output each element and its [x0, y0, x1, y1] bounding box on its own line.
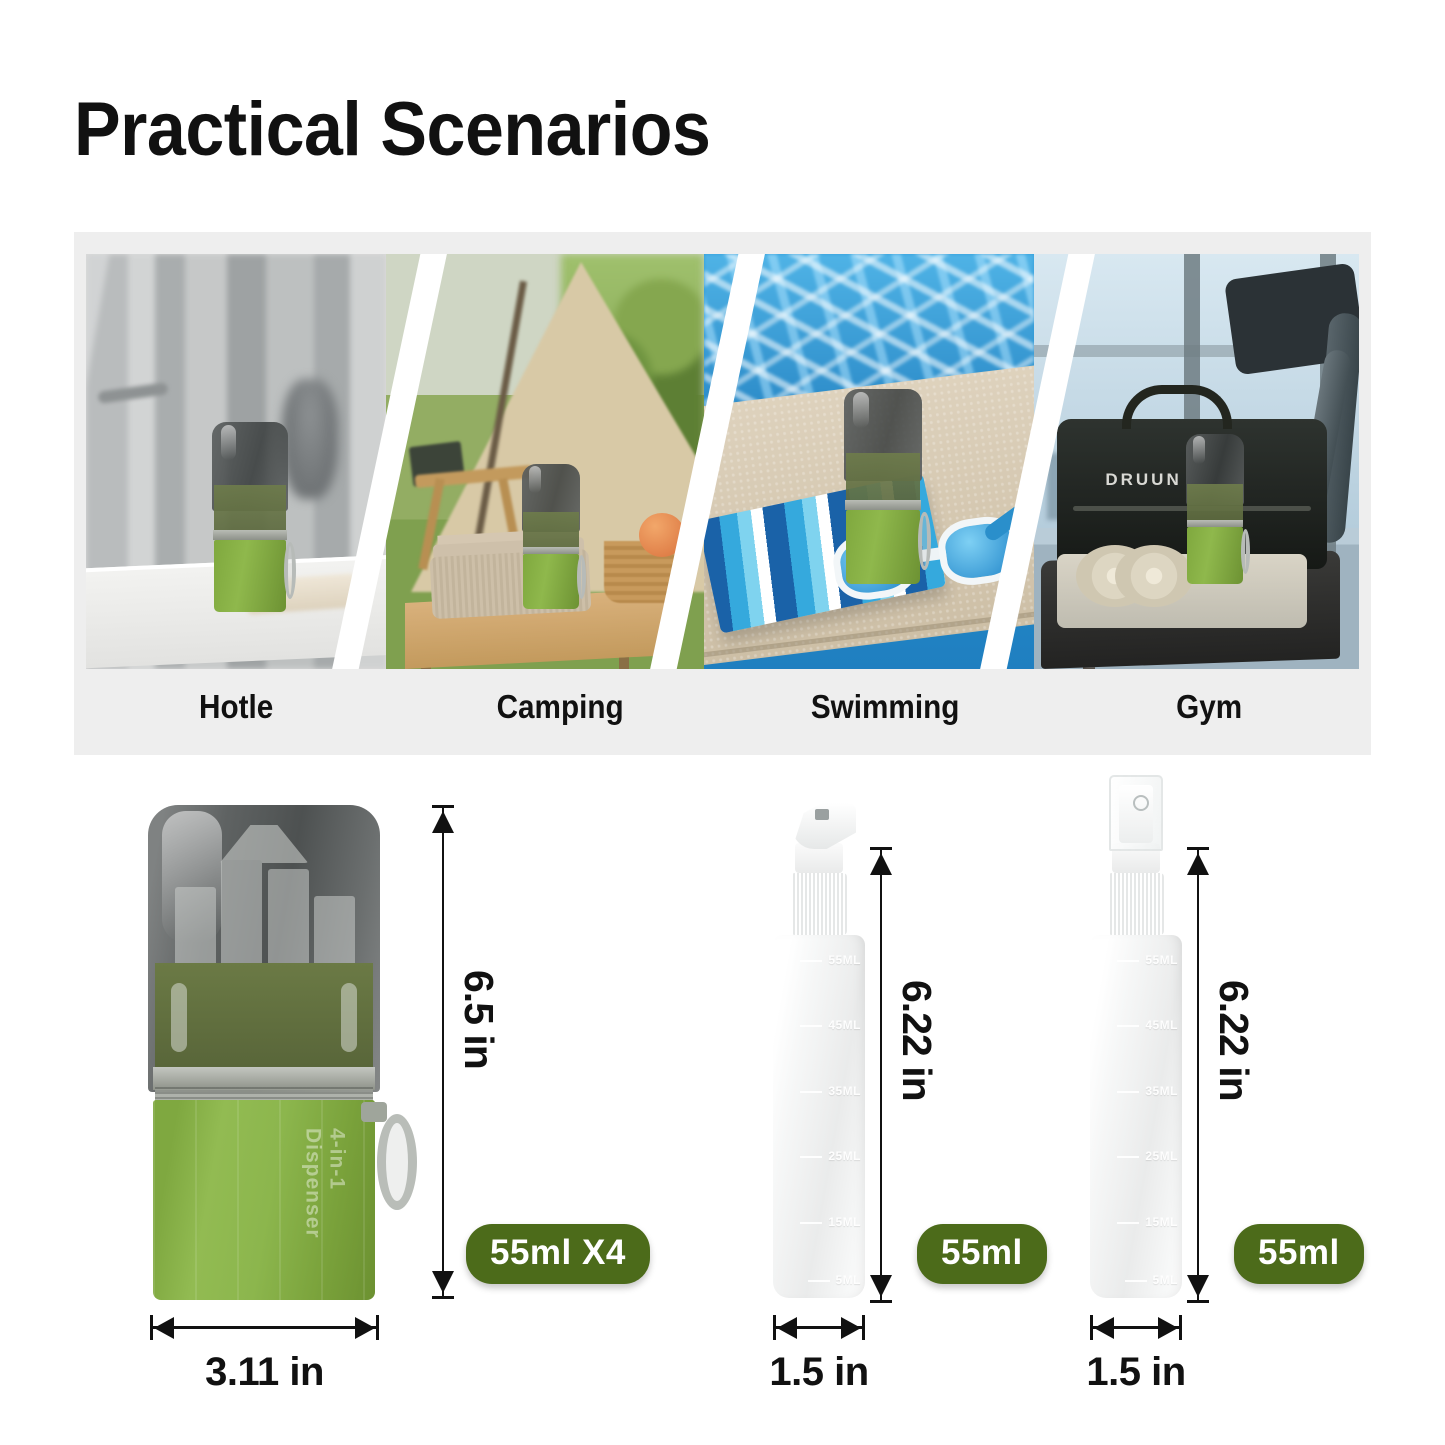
graduation-mark: 55ML — [828, 953, 861, 967]
spray-volume-badge: 55ml — [1234, 1224, 1364, 1284]
graduation-mark: 55ML — [1145, 953, 1178, 967]
product-in-swimming — [844, 389, 922, 584]
product-ring — [523, 547, 580, 554]
scenario-photo-strip: DRUUN — [86, 254, 1359, 669]
dispenser-emboss-text: 4-in-1 Dispenser — [301, 1128, 349, 1300]
mist-spray-head-icon — [1119, 785, 1153, 843]
graduation-mark: 5ML — [836, 1273, 862, 1287]
graduation-mark: 35ML — [828, 1084, 861, 1098]
product-body — [523, 554, 579, 609]
dispenser-height-dimension — [442, 808, 444, 1296]
graduation-mark: 45ML — [828, 1018, 861, 1032]
scenario-label-gym: Gym — [1063, 688, 1355, 726]
spray-height-dimension — [1197, 850, 1199, 1300]
inner-pump-heads — [171, 825, 357, 974]
cap-highlight — [853, 392, 869, 429]
graduation-mark: 25ML — [828, 1149, 861, 1163]
graduation-mark: 15ML — [1145, 1215, 1178, 1229]
spray-width-dimension — [1092, 1326, 1180, 1329]
product-spray-bottle: 55ML 45ML 35ML 25ML 15ML 5ML — [1090, 935, 1182, 1298]
bag-brand-label: DRUUN — [1105, 470, 1181, 490]
product-band — [1187, 484, 1243, 523]
lotion-width-dimension — [775, 1326, 863, 1329]
scenario-label-hotel: Hotle — [90, 688, 382, 726]
product-lotion-bottle: 55ML 45ML 35ML 25ML 15ML 5ML — [773, 935, 865, 1298]
scenarios-section: DRUUN — [74, 232, 1371, 755]
product-in-gym — [1186, 434, 1244, 584]
rolled-towel — [1115, 545, 1193, 607]
product-body — [846, 510, 921, 584]
cap-highlight — [529, 466, 541, 493]
product-dispenser: 4-in-1 Dispenser — [148, 805, 380, 1300]
bottle-graduations: 55ML 45ML 35ML 25ML 15ML 5ML — [1090, 935, 1182, 1298]
dispenser-window — [341, 983, 357, 1052]
lanyard-loop-icon — [918, 512, 930, 571]
dimensions-section: 4-in-1 Dispenser 6.5 in 3.11 in 55ml X4 … — [0, 780, 1445, 1445]
spray-height-label: 6.22 in — [1210, 980, 1257, 1101]
graduation-mark: 15ML — [828, 1215, 861, 1229]
dispenser-lanyard — [361, 1102, 417, 1214]
shower-head-icon — [282, 379, 338, 499]
graduation-mark: 25ML — [1145, 1149, 1178, 1163]
scenario-label-camping: Camping — [414, 688, 706, 726]
infographic-page: Practical Scenarios — [0, 0, 1445, 1445]
product-ring — [845, 500, 921, 510]
bottle-graduations: 55ML 45ML 35ML 25ML 15ML 5ML — [773, 935, 865, 1298]
lotion-volume-badge: 55ml — [917, 1224, 1047, 1284]
graduation-mark: 5ML — [1153, 1273, 1179, 1287]
dispenser-width-dimension — [152, 1326, 377, 1329]
product-band — [214, 485, 287, 534]
product-ring — [1187, 520, 1244, 528]
dispenser-window — [171, 983, 187, 1052]
lotion-height-dimension — [880, 850, 882, 1300]
graduation-mark: 45ML — [1145, 1018, 1178, 1032]
scenario-photo-swimming — [704, 254, 1034, 669]
product-body — [1187, 527, 1243, 584]
scenario-photo-gym: DRUUN — [1034, 254, 1359, 669]
bag-handle-icon — [1122, 385, 1232, 429]
spray-width-label: 1.5 in — [1069, 1350, 1203, 1395]
product-band — [846, 453, 921, 504]
graduation-mark: 35ML — [1145, 1084, 1178, 1098]
product-body — [214, 540, 287, 612]
dispenser-body: 4-in-1 Dispenser — [153, 1100, 376, 1300]
page-title: Practical Scenarios — [74, 86, 710, 173]
scenario-photo-hotel — [86, 254, 386, 669]
product-in-camping — [522, 464, 580, 609]
product-band — [523, 512, 579, 550]
scenario-label-swimming: Swimming — [739, 688, 1031, 726]
dispenser-height-label: 6.5 in — [455, 970, 502, 1069]
bottle-neck — [1108, 873, 1164, 935]
cap-highlight — [1193, 436, 1205, 464]
dispenser-volume-badge: 55ml X4 — [466, 1224, 650, 1284]
dispenser-width-label: 3.11 in — [152, 1350, 377, 1395]
cap-highlight — [221, 425, 236, 461]
lotion-height-label: 6.22 in — [893, 980, 940, 1101]
spray-nozzle-icon — [1133, 795, 1149, 811]
bottle-neck — [791, 873, 847, 935]
product-in-hotel — [212, 422, 288, 612]
product-ring — [213, 530, 287, 540]
scenario-labels: Hotle Camping Swimming Gym — [74, 659, 1371, 755]
pump-nozzle-icon — [815, 809, 829, 820]
lotion-width-label: 1.5 in — [752, 1350, 886, 1395]
